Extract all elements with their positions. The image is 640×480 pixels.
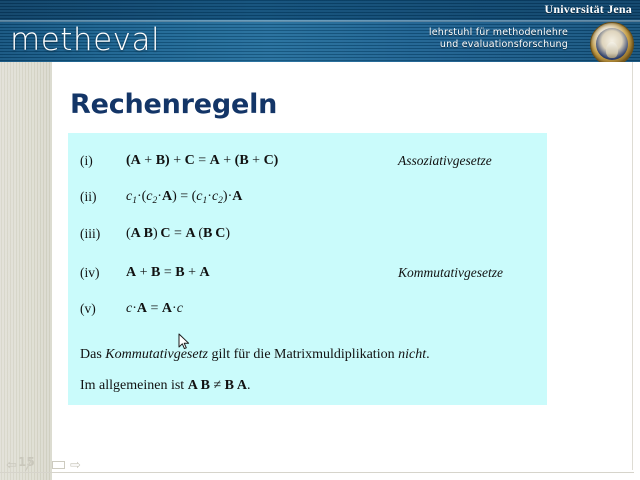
seal-figure (606, 42, 618, 58)
chair-subtitle-line2: und evaluationsforschung (348, 39, 568, 51)
rule-number: (ii) (80, 187, 124, 207)
page-title: Rechenregeln (70, 89, 277, 120)
rule-formula: (A B) C = A (B C) (126, 224, 230, 244)
site-banner: Universität Jena metheval lehrstuhl für … (0, 0, 640, 62)
previous-page-icon[interactable]: ⇦ (6, 459, 17, 472)
rule-formula: A + B = B + A (126, 263, 210, 283)
rule-number: (iii) (80, 224, 124, 244)
rule-formula: c·A = A·c (126, 299, 183, 319)
metheval-wordmark: metheval (10, 23, 160, 57)
rule-row: (i) (A + B) + C = A + (B + C) Assoziativ… (68, 151, 547, 173)
rule-formula: c1·(c2·A) = (c1·c2)·A (126, 187, 242, 211)
rule-law-label: Assoziativgesetze (398, 151, 492, 171)
rule-row: (iii) (A B) C = A (B C) (68, 224, 547, 246)
slide-page: Rechenregeln (i) (A + B) + C = A + (B + … (52, 58, 630, 464)
next-page-icon[interactable]: ⇨ (70, 459, 81, 472)
bottom-divider (0, 472, 634, 473)
rule-row: (iv) A + B = B + A Kommutativgesetze (68, 263, 547, 285)
rule-number: (v) (80, 299, 124, 319)
content-panel: (i) (A + B) + C = A + (B + C) Assoziativ… (68, 133, 547, 405)
note-paragraph: Das Kommutativgesetz gilt für die Matrix… (80, 345, 540, 365)
rule-row: (ii) c1·(c2·A) = (c1·c2)·A (68, 187, 547, 209)
right-gutter (633, 58, 640, 480)
university-label: Universität Jena (544, 2, 632, 17)
rule-number: (i) (80, 151, 124, 171)
right-border-line (632, 58, 633, 470)
left-sidebar-strip (0, 0, 52, 480)
slide-viewer-window: Rechenregeln (i) (A + B) + C = A + (B + … (0, 0, 640, 480)
chair-subtitle: lehrstuhl für methodenlehre und evaluati… (348, 27, 568, 51)
seal-inner-disc (596, 28, 628, 60)
rule-number: (iv) (80, 263, 124, 283)
rule-law-label: Kommutativgesetze (398, 263, 503, 283)
university-seal-icon (590, 22, 634, 62)
rule-formula: (A + B) + C = A + (B + C) (126, 151, 278, 171)
stop-icon[interactable] (52, 461, 65, 469)
bottom-nav-bar: ⇦ 15 / ⇨ (0, 458, 640, 480)
note-paragraph: Im allgemeinen ist A B ≠ B A. (80, 376, 540, 396)
rule-row: (v) c·A = A·c (68, 299, 547, 321)
chair-subtitle-line1: lehrstuhl für methodenlehre (348, 27, 568, 39)
